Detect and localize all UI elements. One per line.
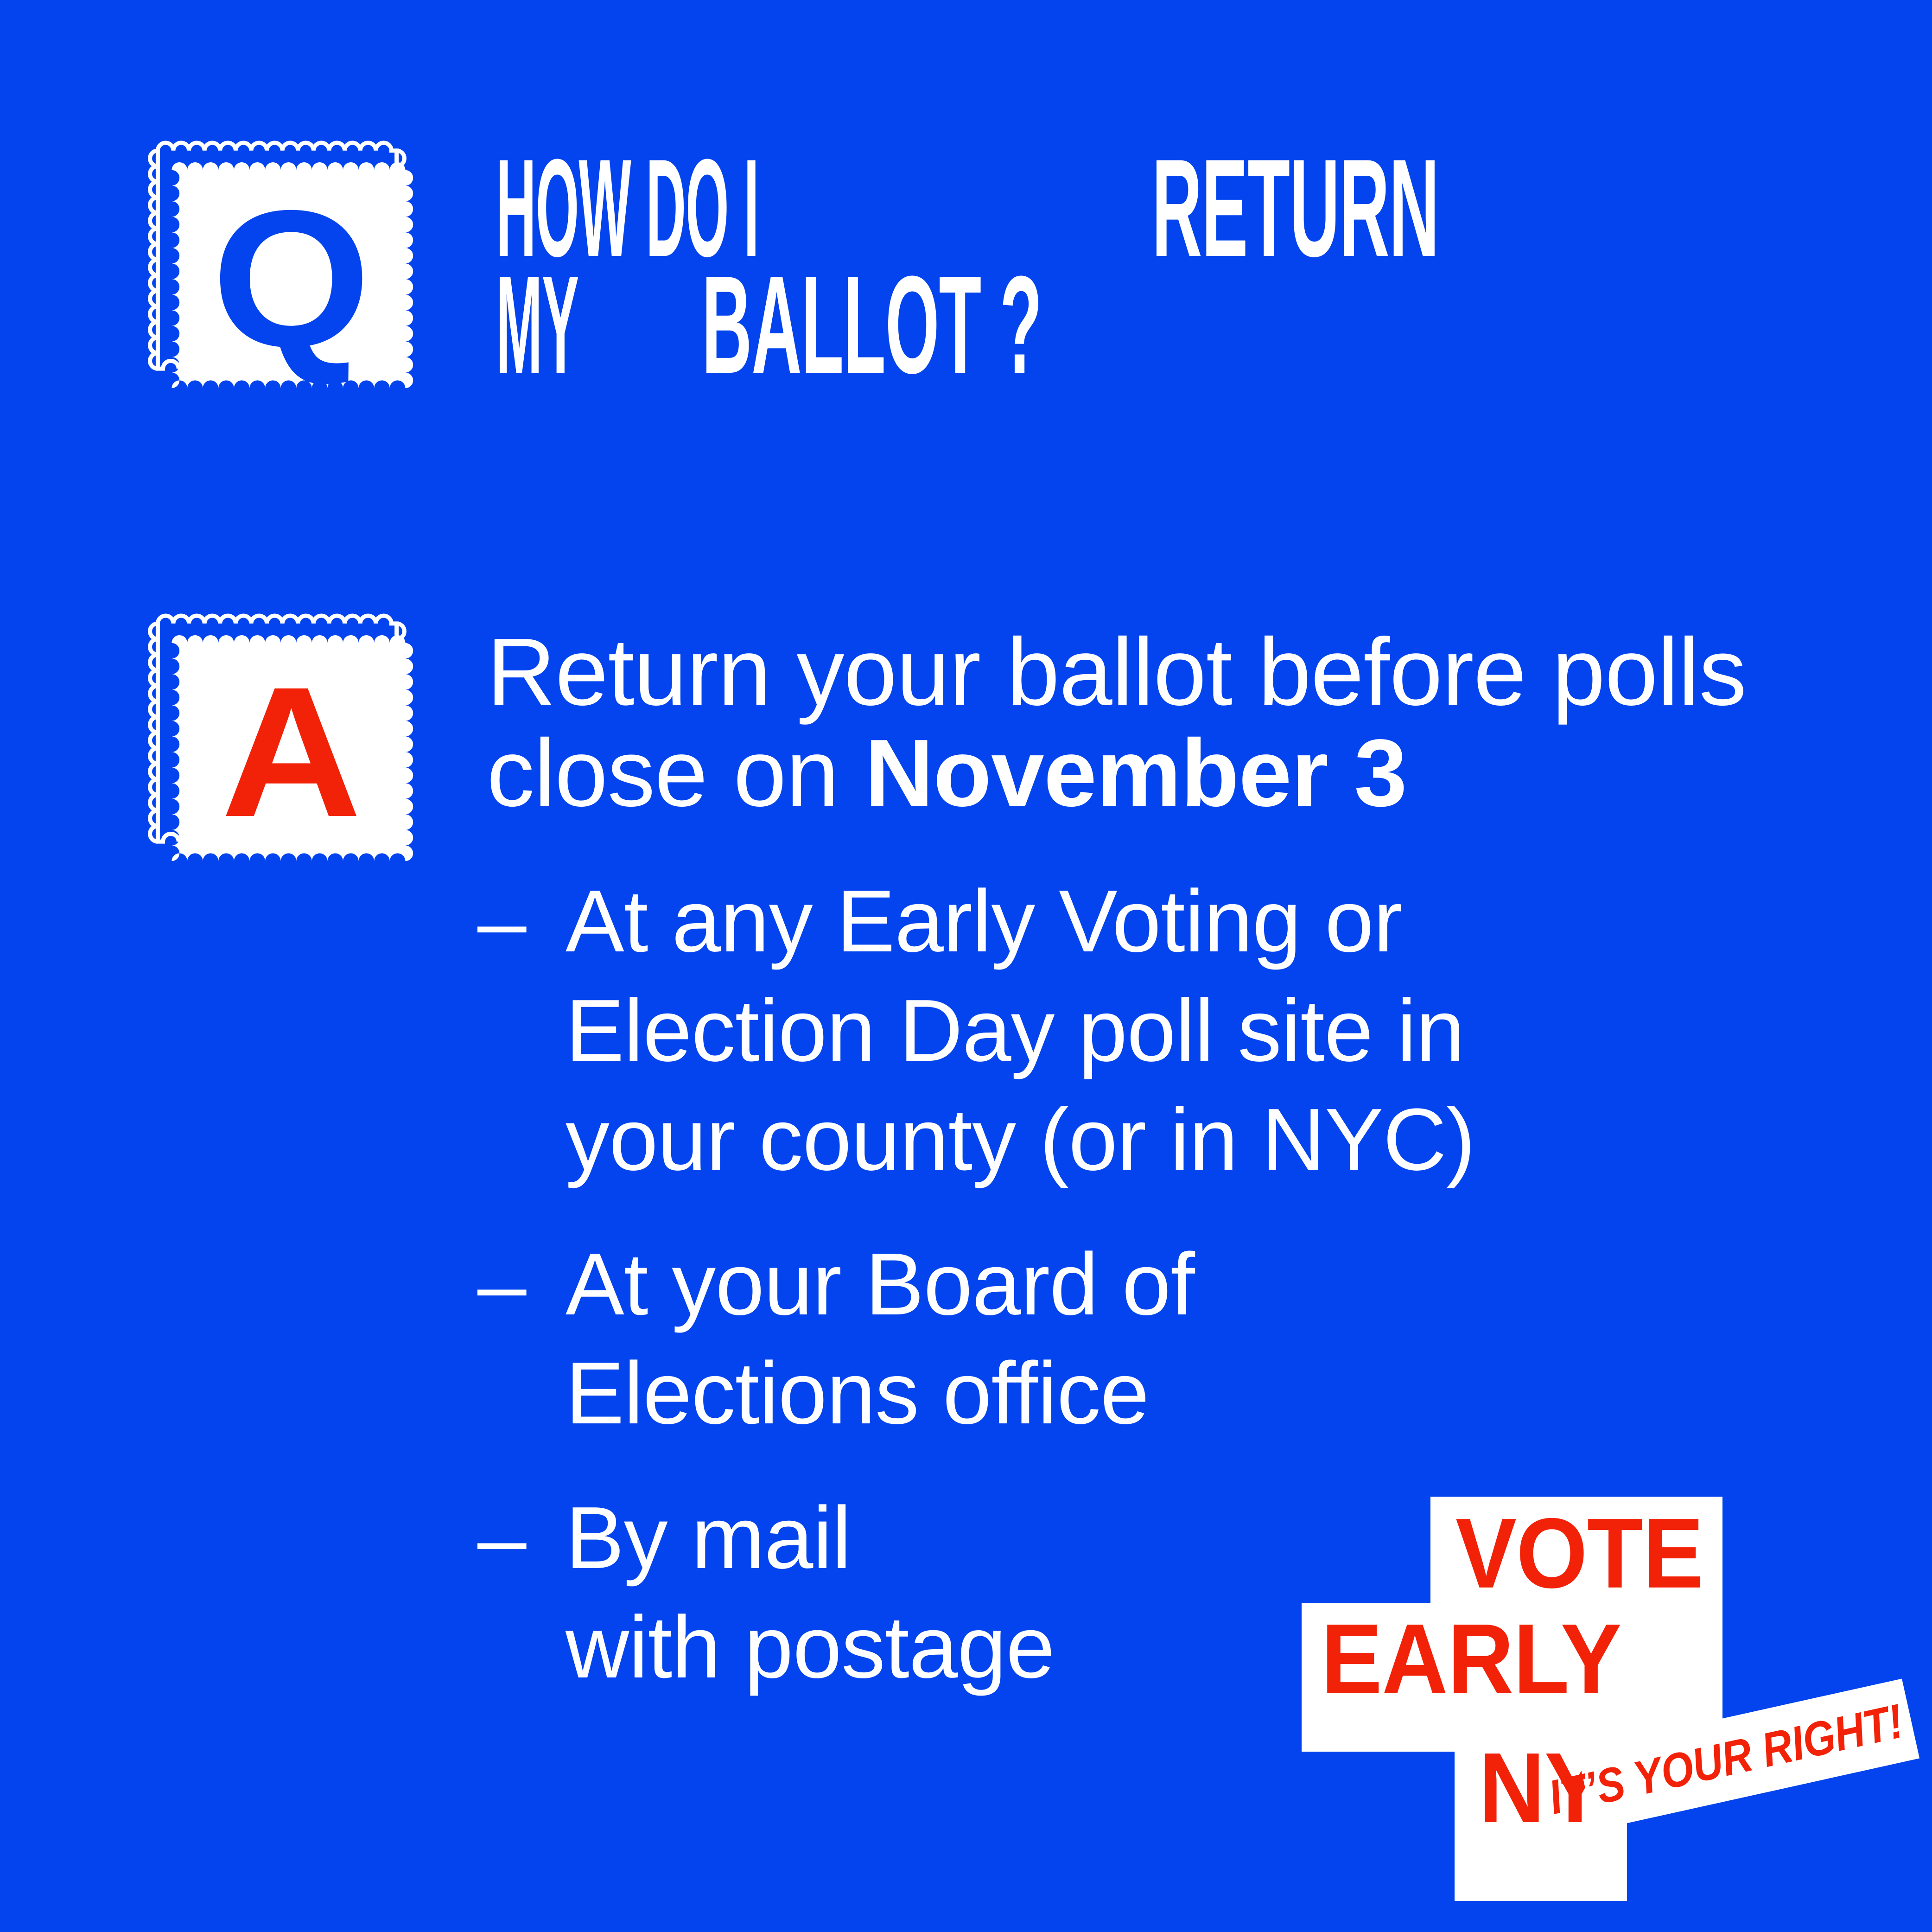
question-stamp-icon: Q — [147, 130, 435, 417]
title-line-1-bold: RETURN — [1152, 149, 1439, 266]
bullet-dash-icon: – — [477, 1484, 566, 1594]
page-title: HOW DO I RETURN MY BALLOT ? — [496, 149, 1868, 383]
bullet-dash-icon: – — [477, 1230, 566, 1340]
vote-early-ny-logo[interactable]: VOTE EARLY NY IT’S YOUR RIGHT! — [1293, 1474, 1910, 1906]
title-line-2-light: MY — [496, 266, 578, 383]
list-item-text: At any Early Voting or Election Day poll… — [566, 867, 1868, 1195]
poster-canvas: Q HOW DO I RETURN MY BALLOT ? A Return y… — [0, 0, 1932, 1932]
question-stamp-letter: Q — [161, 149, 421, 409]
list-item-line: At any Early Voting or — [566, 867, 1868, 976]
list-item-line: your county (or in NYC) — [566, 1085, 1868, 1195]
list-item-line: Elections office — [566, 1339, 1868, 1448]
answer-stamp-letter: A — [161, 622, 421, 882]
answer-lead: Return your ballot before polls close on… — [487, 621, 1868, 824]
answer-stamp-icon: A — [147, 603, 435, 890]
list-item-line: At your Board of — [566, 1230, 1868, 1339]
answer-lead-text: Return your ballot before polls close on… — [487, 621, 1868, 824]
logo-word-early: EARLY — [1321, 1609, 1621, 1709]
list-item-line: Election Day poll site in — [566, 976, 1868, 1086]
list-item-text: At your Board of Elections office — [566, 1230, 1868, 1448]
list-item: – At any Early Voting or Election Day po… — [477, 867, 1868, 1195]
logo-word-vote: VOTE — [1455, 1503, 1703, 1603]
answer-lead-date: November 3 — [865, 720, 1407, 826]
bullet-dash-icon: – — [477, 867, 566, 977]
list-item: – At your Board of Elections office — [477, 1230, 1868, 1448]
title-line-2-bold: BALLOT ? — [702, 266, 1042, 383]
